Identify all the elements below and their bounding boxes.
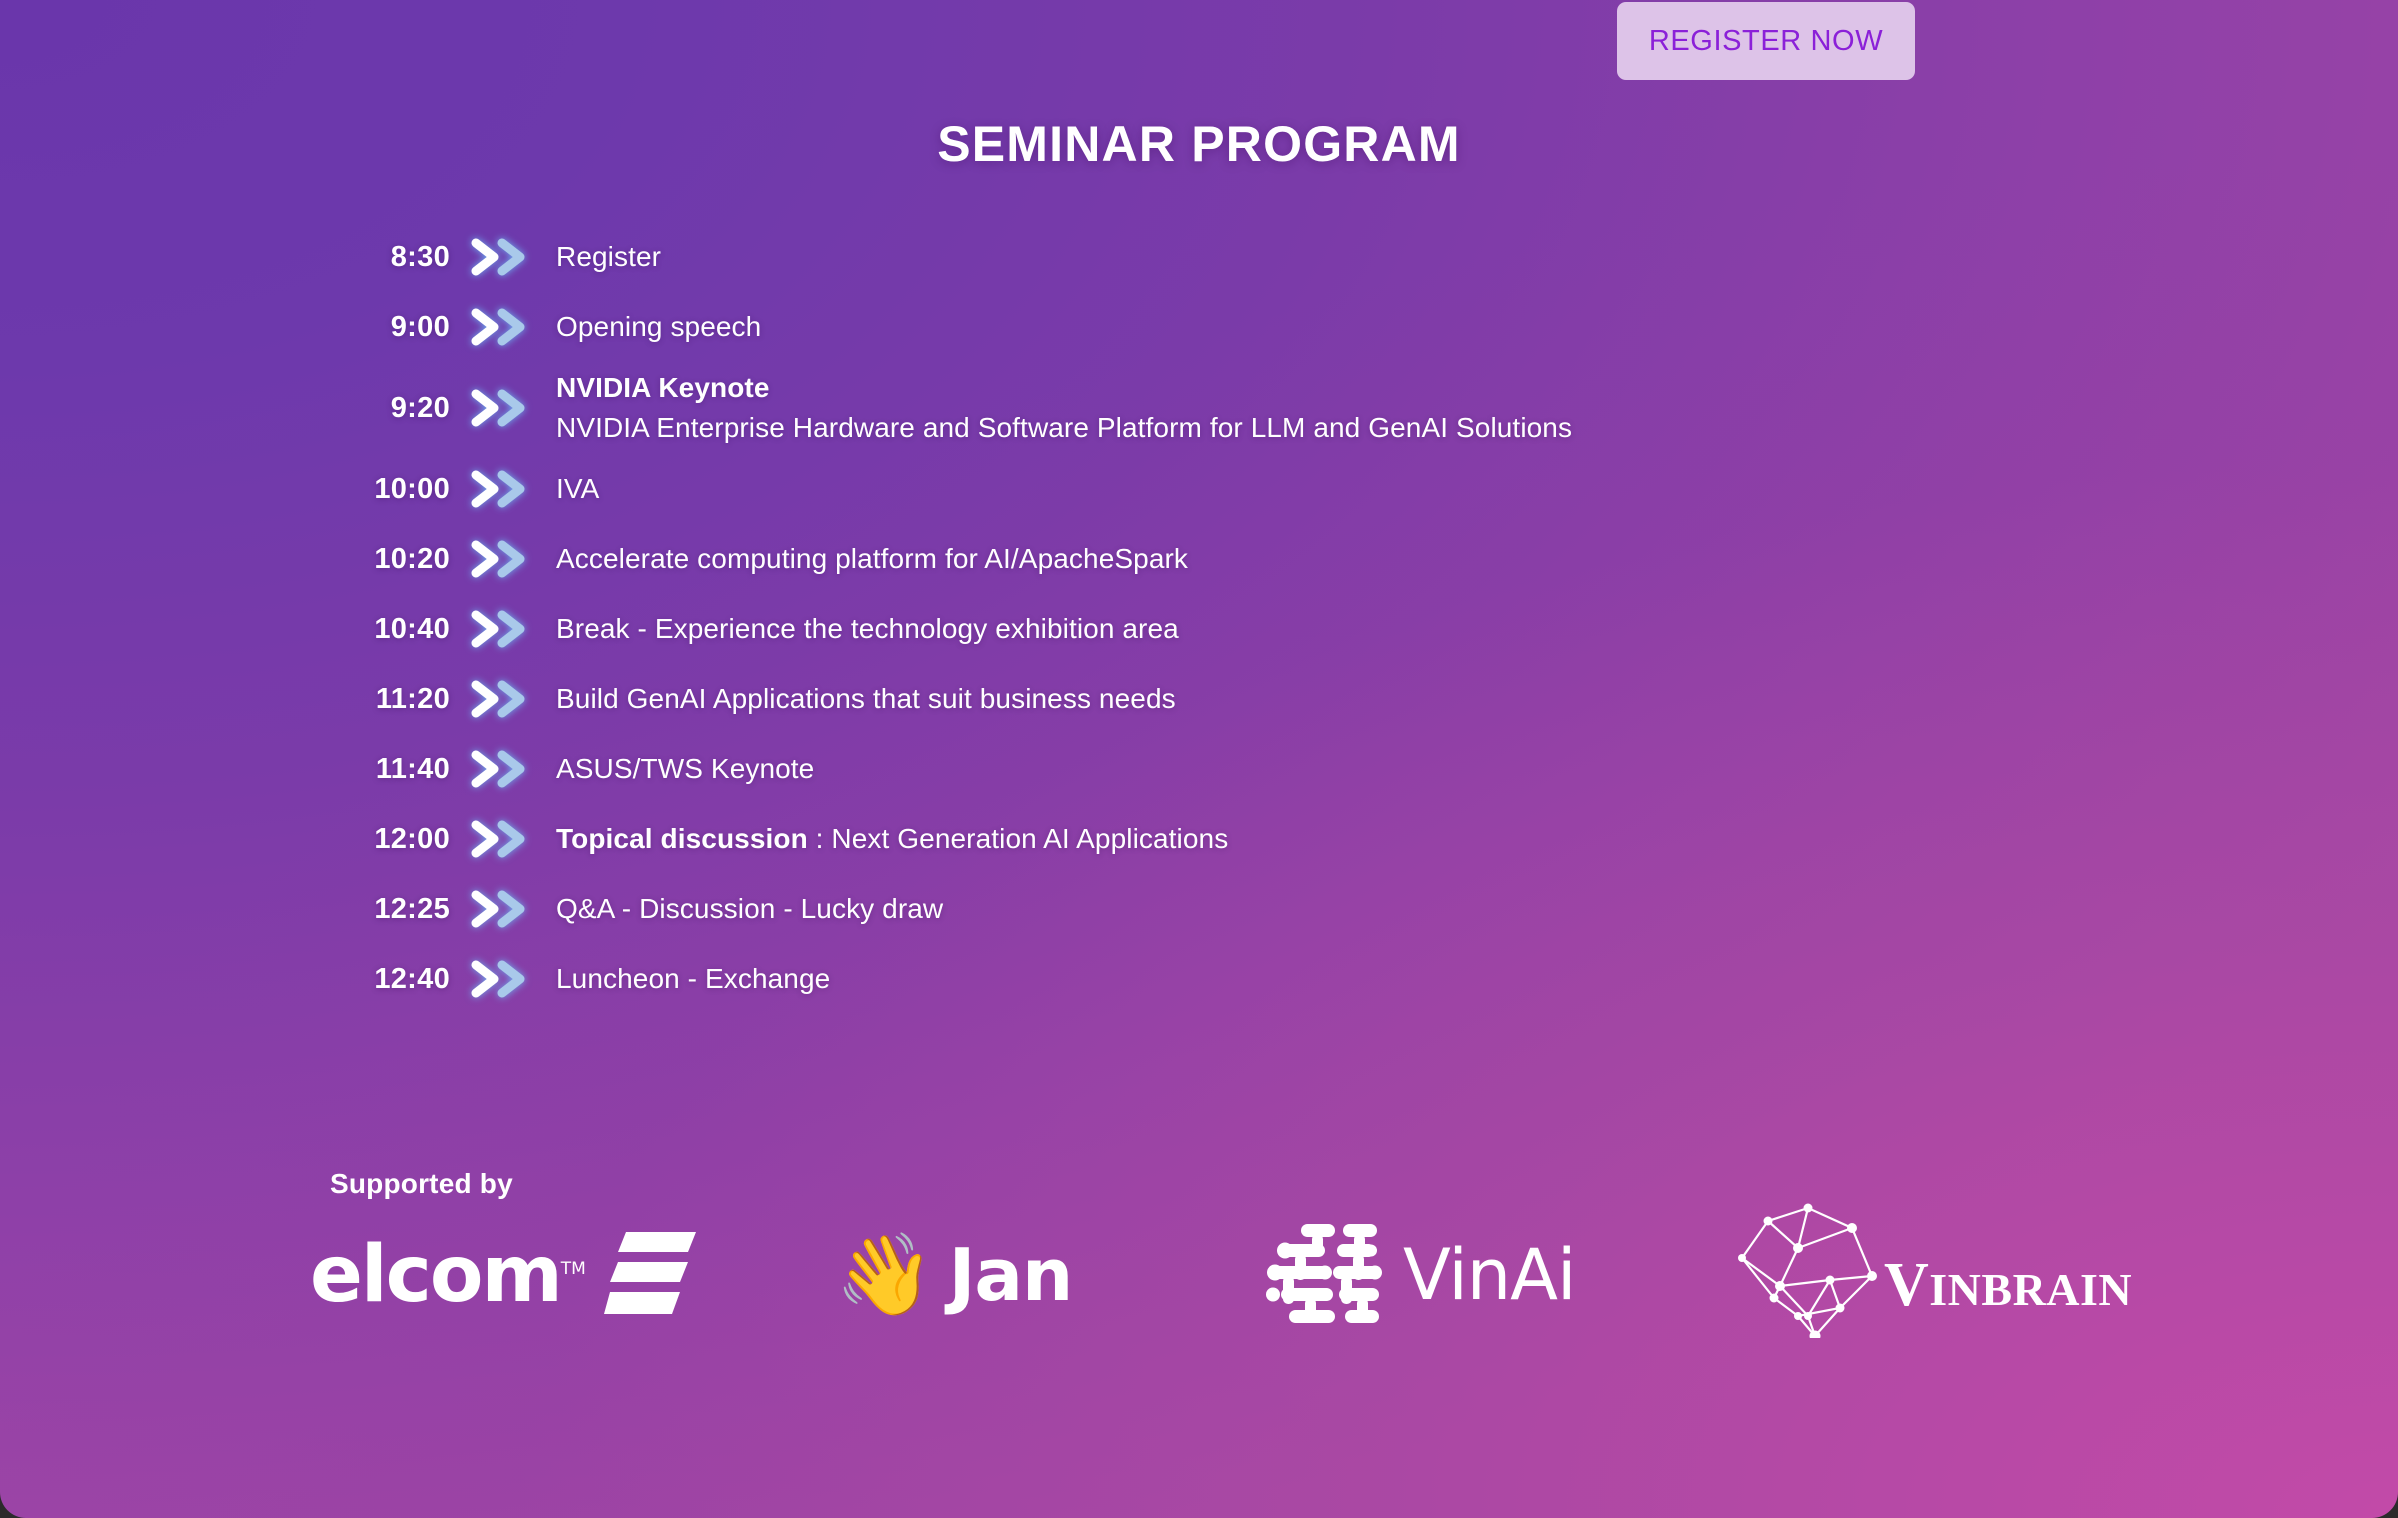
schedule-time: 11:20 (330, 683, 450, 716)
schedule-description: Build GenAI Applications that suit busin… (556, 679, 1176, 719)
schedule-row: 11:20Build GenAI Applications that suit … (330, 664, 2230, 734)
elcom-e-icon (604, 1230, 696, 1321)
schedule-time: 11:40 (330, 753, 450, 786)
schedule-session-title: Topical discussion (556, 823, 808, 854)
sponsor-logo-jan[interactable]: 👋 Jan (835, 1205, 1072, 1345)
jan-wordmark: Jan (949, 1233, 1073, 1317)
schedule-time: 12:00 (330, 823, 450, 856)
schedule-description: Luncheon - Exchange (556, 959, 830, 999)
schedule-time: 10:00 (330, 473, 450, 506)
elcom-wordmark: elcomTM (310, 1236, 586, 1314)
sponsor-logo-vinbrain[interactable]: VINBRAIN (1720, 1195, 2132, 1335)
double-chevron-icon (468, 959, 544, 999)
double-chevron-icon (468, 307, 544, 347)
vinbrain-wordmark: VINBRAIN (1884, 1250, 2132, 1321)
schedule-row: 12:40Luncheon - Exchange (330, 944, 2230, 1014)
double-chevron-icon (468, 388, 544, 428)
supported-by-label: Supported by (330, 1168, 513, 1200)
vinai-wordmark: VinAi (1403, 1234, 1576, 1316)
schedule-time: 12:40 (330, 963, 450, 996)
sponsor-logos: elcomTM 👋 Jan (300, 1205, 2180, 1355)
schedule-description: Register (556, 237, 661, 277)
schedule-row: 12:00Topical discussion : Next Generatio… (330, 804, 2230, 874)
schedule-description: Opening speech (556, 307, 761, 347)
trademark-symbol: TM (561, 1259, 586, 1279)
double-chevron-icon (468, 609, 544, 649)
schedule-session-subtitle: : Next Generation AI Applications (808, 823, 1229, 854)
schedule-description: ASUS/TWS Keynote (556, 749, 814, 789)
register-now-button[interactable]: REGISTER NOW (1617, 2, 1915, 80)
schedule-row: 8:30Register (330, 222, 2230, 292)
schedule-time: 10:20 (330, 543, 450, 576)
schedule-time: 9:20 (330, 392, 450, 425)
waving-hand-icon: 👋 (835, 1235, 935, 1315)
double-chevron-icon (468, 819, 544, 859)
schedule-time: 10:40 (330, 613, 450, 646)
schedule-row: 11:40ASUS/TWS Keynote (330, 734, 2230, 804)
schedule-row: 12:25Q&A - Discussion - Lucky draw (330, 874, 2230, 944)
double-chevron-icon (468, 679, 544, 719)
double-chevron-icon (468, 539, 544, 579)
schedule-description: Break - Experience the technology exhibi… (556, 609, 1179, 649)
double-chevron-icon (468, 469, 544, 509)
sponsor-logo-elcom[interactable]: elcomTM (310, 1205, 696, 1345)
double-chevron-icon (468, 889, 544, 929)
schedule-row: 10:00IVA (330, 454, 2230, 524)
schedule-session-subtitle: NVIDIA Enterprise Hardware and Software … (556, 412, 1572, 443)
sponsor-logo-vinai[interactable]: VinAi (1265, 1205, 1576, 1345)
double-chevron-icon (468, 237, 544, 277)
vinai-circuit-icon (1265, 1218, 1383, 1333)
schedule-row: 9:00Opening speech (330, 292, 2230, 362)
schedule-description: Topical discussion : Next Generation AI … (556, 819, 1228, 859)
seminar-schedule-list: 8:30Register9:00Opening speech9:20NVIDIA… (330, 222, 2230, 1014)
schedule-description: NVIDIA KeynoteNVIDIA Enterprise Hardware… (556, 368, 1572, 448)
schedule-description: IVA (556, 469, 599, 509)
schedule-time: 9:00 (330, 311, 450, 344)
double-chevron-icon (468, 749, 544, 789)
page-title: SEMINAR PROGRAM (0, 115, 2398, 173)
schedule-row: 9:20NVIDIA KeynoteNVIDIA Enterprise Hard… (330, 362, 2230, 454)
schedule-time: 8:30 (330, 241, 450, 274)
seminar-program-page: REGISTER NOW SEMINAR PROGRAM 8:30Registe… (0, 0, 2398, 1518)
schedule-row: 10:20Accelerate computing platform for A… (330, 524, 2230, 594)
vinbrain-brain-network-icon (1720, 1188, 1910, 1343)
schedule-description: Accelerate computing platform for AI/Apa… (556, 539, 1188, 579)
schedule-row: 10:40Break - Experience the technology e… (330, 594, 2230, 664)
schedule-session-title: NVIDIA Keynote (556, 372, 770, 403)
schedule-time: 12:25 (330, 893, 450, 926)
schedule-description: Q&A - Discussion - Lucky draw (556, 889, 943, 929)
